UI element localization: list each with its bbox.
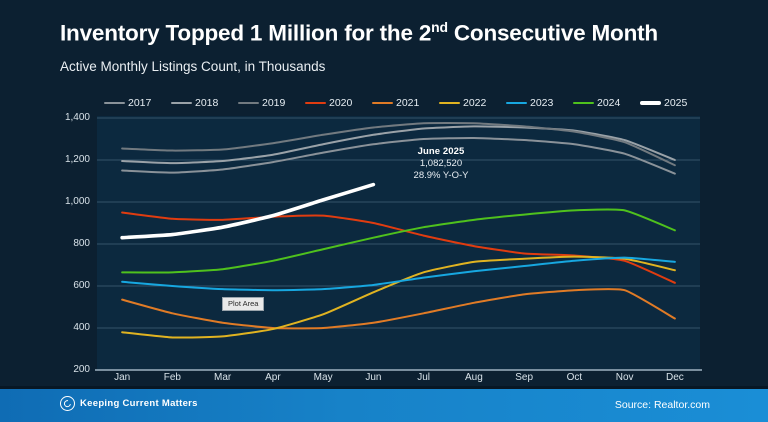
kcm-circle-icon (60, 396, 75, 411)
legend-label: 2020 (329, 96, 352, 110)
y-axis-tick-label: 1,200 (44, 155, 90, 165)
x-axis-tick-label: Jul (398, 372, 450, 383)
chart-legend: 201720182019202020212022202320242025 (104, 96, 704, 110)
legend-label: 2021 (396, 96, 419, 110)
legend-label: 2019 (262, 96, 285, 110)
x-axis-tick-label: Sep (498, 372, 550, 383)
legend-item-2024[interactable]: 2024 (573, 96, 620, 110)
y-axis-tick-label: 400 (44, 323, 90, 333)
x-axis-tick-label: Aug (448, 372, 500, 383)
page-title: Inventory Topped 1 Million for the 2nd C… (60, 19, 658, 47)
y-axis-tick-label: 1,400 (44, 113, 90, 123)
june-2025-annotation: June 2025 1,082,520 28.9% Y-O-Y (382, 146, 500, 181)
legend-swatch-icon (439, 102, 460, 104)
legend-swatch-icon (372, 102, 393, 104)
x-axis-tick-label: Oct (548, 372, 600, 383)
legend-item-2021[interactable]: 2021 (372, 96, 419, 110)
x-axis-tick-label: Dec (649, 372, 701, 383)
annotation-value: 1,082,520 (382, 158, 500, 169)
annotation-yoy: 28.9% Y-O-Y (382, 170, 500, 181)
y-axis-tick-label: 200 (44, 365, 90, 375)
page-title-superscript: nd (431, 19, 448, 35)
chart-slide: Inventory Topped 1 Million for the 2nd C… (0, 0, 768, 422)
legend-label: 2017 (128, 96, 151, 110)
legend-label: 2022 (463, 96, 486, 110)
y-axis-tick-label: 600 (44, 281, 90, 291)
page-title-tail: Consecutive Month (448, 21, 658, 46)
x-axis-tick-label: Jan (96, 372, 148, 383)
annotation-label: June 2025 (382, 146, 500, 157)
y-axis-tick-label: 800 (44, 239, 90, 249)
legend-swatch-icon (171, 102, 192, 104)
page-title-main: Inventory Topped 1 Million for the 2 (60, 21, 431, 46)
legend-swatch-icon (506, 102, 527, 104)
legend-swatch-icon (305, 102, 326, 104)
legend-item-2023[interactable]: 2023 (506, 96, 553, 110)
legend-item-2025[interactable]: 2025 (640, 96, 687, 110)
plot-area-tooltip: Plot Area (222, 297, 264, 311)
legend-item-2022[interactable]: 2022 (439, 96, 486, 110)
x-axis-tick-label: Mar (197, 372, 249, 383)
legend-item-2020[interactable]: 2020 (305, 96, 352, 110)
page-subtitle: Active Monthly Listings Count, in Thousa… (60, 59, 325, 74)
x-axis-tick-label: Nov (599, 372, 651, 383)
legend-swatch-icon (238, 102, 259, 104)
legend-label: 2024 (597, 96, 620, 110)
y-axis-tick-label: 1,000 (44, 197, 90, 207)
legend-item-2019[interactable]: 2019 (238, 96, 285, 110)
source-label: Source: Realtor.com (615, 399, 710, 411)
legend-label: 2023 (530, 96, 553, 110)
legend-item-2017[interactable]: 2017 (104, 96, 151, 110)
brand-name: Keeping Current Matters (80, 398, 198, 409)
x-axis-tick-label: Feb (146, 372, 198, 383)
brand-logo: Keeping Current Matters (60, 396, 198, 411)
legend-swatch-icon (640, 101, 661, 105)
x-axis-tick-label: May (297, 372, 349, 383)
legend-label: 2025 (664, 96, 687, 110)
header: Inventory Topped 1 Million for the 2nd C… (0, 0, 768, 88)
legend-swatch-icon (573, 102, 594, 104)
x-axis-tick-label: Apr (247, 372, 299, 383)
legend-label: 2018 (195, 96, 218, 110)
footer: Keeping Current Matters Source: Realtor.… (0, 389, 768, 422)
legend-swatch-icon (104, 102, 125, 104)
x-axis-tick-label: Jun (347, 372, 399, 383)
legend-item-2018[interactable]: 2018 (171, 96, 218, 110)
